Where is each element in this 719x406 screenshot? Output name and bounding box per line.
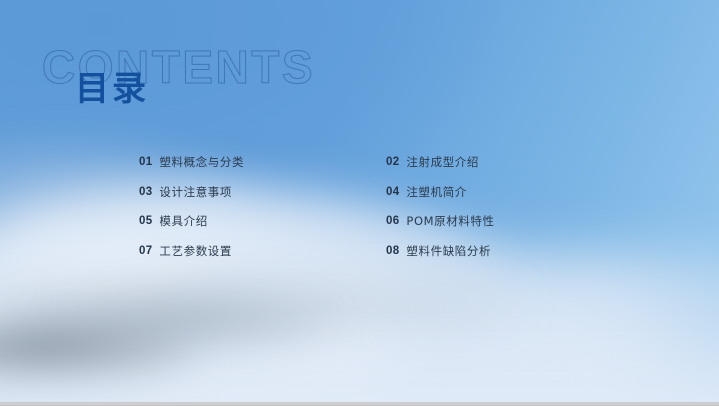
toc-number: 02 <box>386 156 399 169</box>
slide-bottom-border <box>0 402 719 406</box>
toc-number: 07 <box>139 245 152 258</box>
toc-number: 05 <box>139 215 152 228</box>
toc-label: 模具介绍 <box>159 215 207 228</box>
toc-item-07[interactable]: 07 工艺参数设置 <box>139 245 386 275</box>
toc-item-06[interactable]: 06 POM原材料特性 <box>386 215 619 245</box>
toc-item-01[interactable]: 01 塑料概念与分类 <box>139 156 386 186</box>
toc-item-08[interactable]: 08 塑料件缺陷分析 <box>386 245 619 275</box>
slide-title-block: CONTENTS 目录 <box>42 44 315 90</box>
toc-item-04[interactable]: 04 注塑机简介 <box>386 186 619 216</box>
toc-label: 设计注意事项 <box>159 186 232 199</box>
toc-item-03[interactable]: 03 设计注意事项 <box>139 186 386 216</box>
toc-label: 注射成型介绍 <box>406 156 479 169</box>
toc-label: 工艺参数设置 <box>159 245 232 258</box>
presentation-slide: CONTENTS 目录 01 塑料概念与分类 02 注射成型介绍 03 设计注意… <box>0 0 719 406</box>
table-of-contents: 01 塑料概念与分类 02 注射成型介绍 03 设计注意事项 04 注塑机简介 … <box>139 156 619 274</box>
toc-number: 04 <box>386 186 399 199</box>
toc-label: 塑料件缺陷分析 <box>406 245 491 258</box>
toc-label: 注塑机简介 <box>406 186 467 199</box>
page-title-chinese: 目录 <box>75 72 149 106</box>
toc-number: 06 <box>386 215 399 228</box>
toc-number: 01 <box>139 156 152 169</box>
toc-number: 08 <box>386 245 399 258</box>
toc-label: POM原材料特性 <box>406 215 494 228</box>
toc-label: 塑料概念与分类 <box>159 156 244 169</box>
toc-number: 03 <box>139 186 152 199</box>
toc-item-02[interactable]: 02 注射成型介绍 <box>386 156 619 186</box>
toc-item-05[interactable]: 05 模具介绍 <box>139 215 386 245</box>
